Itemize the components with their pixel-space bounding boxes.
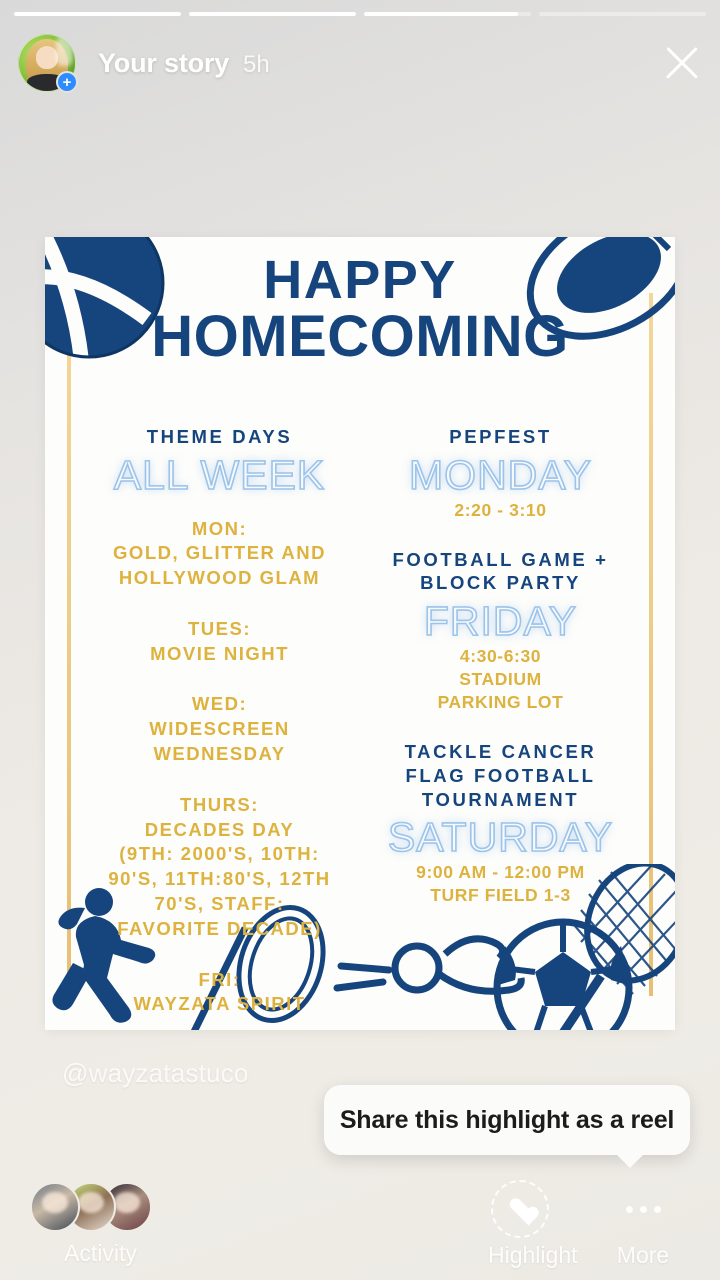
progress-segment-3[interactable] (364, 12, 531, 16)
theme-day-wed-label: WED: (79, 692, 360, 717)
progress-fill-2 (189, 12, 356, 16)
progress-segment-4[interactable] (539, 12, 706, 16)
more-label: More (600, 1242, 686, 1269)
theme-day-mon-detail: GOLD, GLITTER AND HOLLYWOOD GLAM (79, 541, 360, 591)
tooltip-arrow (616, 1154, 644, 1168)
event-football-day: FRIDAY (360, 599, 641, 645)
poster-title-line2: HOMECOMING (45, 307, 675, 366)
story-timestamp: 5h (243, 51, 270, 79)
avatar-highlight (42, 1192, 68, 1213)
close-icon[interactable] (660, 41, 704, 85)
theme-day-thurs-label: THURS: (79, 793, 360, 818)
progress-fill-1 (14, 12, 181, 16)
share-reel-tooltip[interactable]: Share this highlight as a reel (324, 1085, 690, 1155)
theme-days-heading: THEME DAYS (79, 425, 360, 449)
story-action-bar: Activity Highlight More (0, 1176, 720, 1280)
progress-segment-1[interactable] (14, 12, 181, 16)
poster-title: HAPPY HOMECOMING (45, 255, 675, 366)
activity-button[interactable]: Activity (30, 1182, 190, 1238)
share-reel-tooltip-text: Share this highlight as a reel (340, 1106, 674, 1135)
avatar-highlight (56, 36, 73, 66)
avatar-highlight (78, 1192, 104, 1213)
poster-rule-left (67, 293, 71, 996)
theme-days-banner: ALL WEEK (79, 453, 360, 499)
theme-day-fri-label: FRI: (79, 968, 360, 993)
add-story-plus-icon[interactable]: + (56, 71, 78, 93)
theme-day-thurs-detail: DECADES DAY (9TH: 2000'S, 10TH: 90'S, 11… (79, 818, 360, 942)
dot-1 (626, 1206, 633, 1213)
activity-label: Activity (64, 1240, 137, 1267)
theme-day-tues-detail: MOVIE NIGHT (79, 642, 360, 667)
story-poster-image[interactable]: HAPPY HOMECOMING THEME DAYS ALL WEEK MON… (45, 237, 675, 1030)
activity-avatar-1[interactable] (30, 1182, 80, 1232)
theme-day-tues-label: TUES: (79, 617, 360, 642)
poster-left-column: THEME DAYS ALL WEEK MON: GOLD, GLITTER A… (79, 425, 360, 1017)
event-tackle-cancer-heading: TACKLE CANCER FLAG FOOTBALL TOURNAMENT (360, 740, 641, 811)
story-meta: Your story 5h (98, 48, 270, 79)
event-pepfest-day: MONDAY (360, 453, 641, 499)
event-tackle-cancer-details: 9:00 AM - 12:00 PM TURF FIELD 1-3 (360, 861, 641, 907)
event-pepfest-details: 2:20 - 3:10 (360, 499, 641, 522)
event-pepfest-heading: PEPFEST (360, 425, 641, 449)
highlight-circle-icon[interactable] (491, 1180, 549, 1238)
event-football-heading: FOOTBALL GAME + BLOCK PARTY (360, 548, 641, 595)
progress-segment-2[interactable] (189, 12, 356, 16)
poster-columns: THEME DAYS ALL WEEK MON: GOLD, GLITTER A… (79, 425, 641, 1017)
poster-rule-right (649, 293, 653, 996)
avatar-highlight (114, 1192, 140, 1213)
poster-title-line1: HAPPY (45, 255, 675, 307)
story-progress-bar[interactable] (14, 12, 706, 16)
heart-icon (509, 1199, 532, 1220)
theme-day-mon-label: MON: (79, 517, 360, 542)
story-handle[interactable]: @wayzatastuco (62, 1058, 249, 1089)
dot-3 (654, 1206, 661, 1213)
more-dots-icon[interactable] (600, 1180, 686, 1238)
activity-avatar-stack[interactable] (30, 1182, 190, 1238)
avatar[interactable]: + (18, 34, 76, 92)
highlight-label: Highlight (488, 1242, 552, 1269)
theme-day-fri-detail: WAYZATA SPIRIT (79, 992, 360, 1017)
theme-day-wed-detail: WIDESCREEN WEDNESDAY (79, 717, 360, 767)
event-tackle-cancer-day: SATURDAY (360, 815, 641, 861)
dot-2 (640, 1206, 647, 1213)
event-football-details: 4:30-6:30 STADIUM PARKING LOT (360, 645, 641, 714)
story-username[interactable]: Your story (98, 48, 229, 79)
progress-fill-3 (364, 12, 518, 16)
poster-right-column: PEPFEST MONDAY 2:20 - 3:10 FOOTBALL GAME… (360, 425, 641, 1017)
more-button[interactable]: More (600, 1180, 686, 1269)
avatar-face (36, 46, 58, 68)
highlight-button[interactable]: Highlight (488, 1180, 552, 1269)
story-header: + Your story 5h (18, 32, 704, 94)
